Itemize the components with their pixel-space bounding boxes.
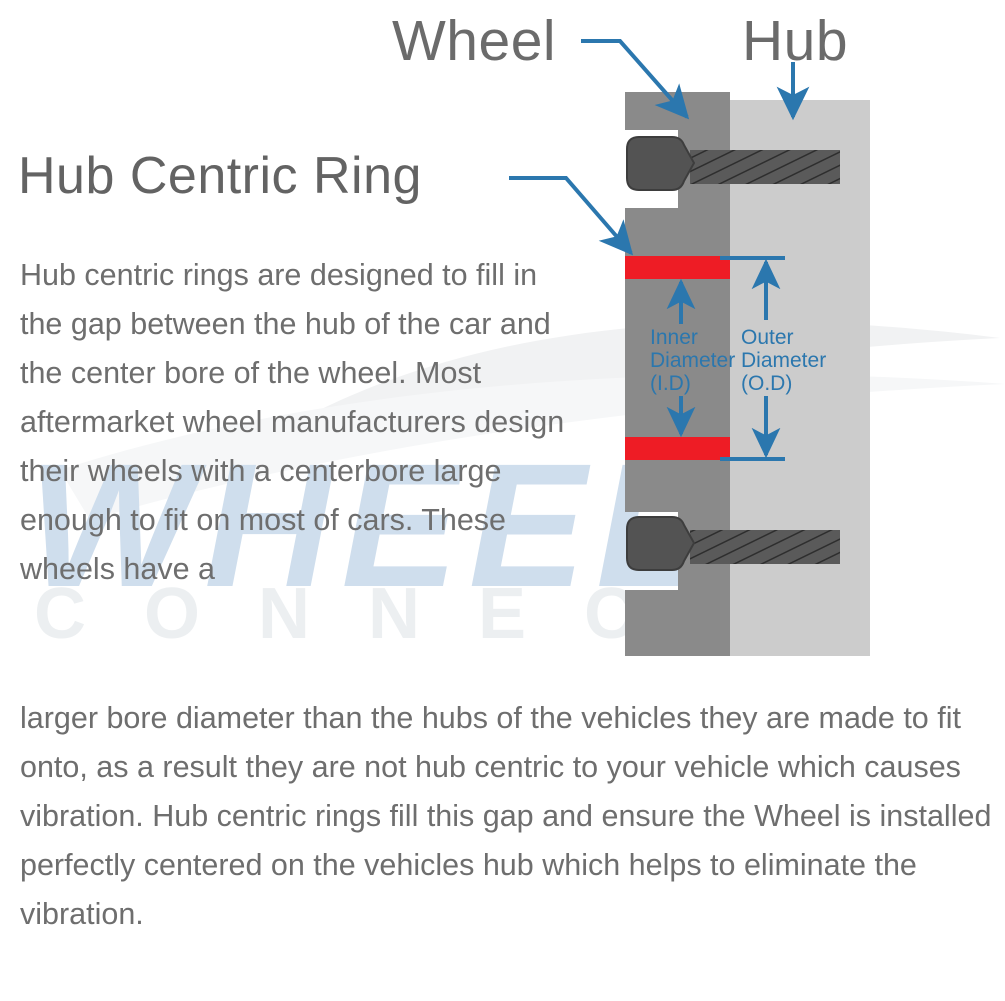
upper-bolt-thread xyxy=(690,150,840,184)
upper-bolt-head xyxy=(627,137,694,190)
diagram-page: WHEEL CONNECT xyxy=(0,0,1005,1001)
outer-diameter-label-line2: Diameter xyxy=(741,349,826,372)
hub-centric-ring-lower xyxy=(625,437,730,460)
inner-diameter-label-line3: (I.D) xyxy=(650,372,691,395)
hub-centric-ring-leader-line xyxy=(509,178,631,253)
inner-diameter-label-line2: Diameter xyxy=(650,349,735,372)
description-paragraph-left: Hub centric rings are designed to fill i… xyxy=(20,251,580,594)
lower-bolt-head xyxy=(627,517,694,570)
hub-callout-label: Hub xyxy=(742,8,848,74)
wheel-callout-label: Wheel xyxy=(392,8,556,74)
inner-diameter-label-line1: Inner xyxy=(650,326,698,349)
hub-centric-ring-upper xyxy=(625,256,730,279)
outer-diameter-label-line1: Outer xyxy=(741,326,794,349)
description-paragraph-bottom: larger bore diameter than the hubs of th… xyxy=(20,694,995,939)
outer-diameter-label-line3: (O.D) xyxy=(741,372,792,395)
hub-centric-ring-callout-label: Hub Centric Ring xyxy=(18,146,422,206)
lower-bolt-thread xyxy=(690,530,840,564)
